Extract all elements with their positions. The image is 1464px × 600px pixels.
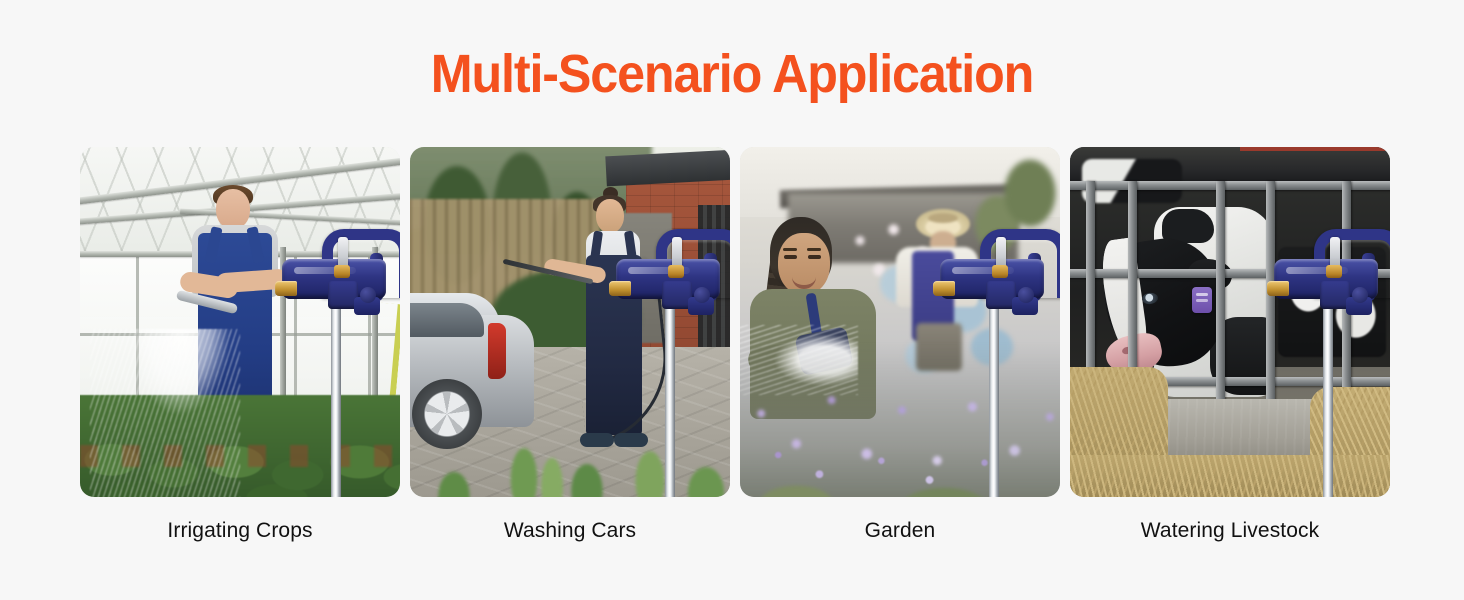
hydrant-bolt xyxy=(1352,287,1368,303)
hydrant-brass-nut xyxy=(992,265,1008,278)
scenario-card-irrigating-crops[interactable]: Irrigating Crops xyxy=(80,147,400,545)
woman-eye-right xyxy=(808,255,821,259)
yard-hydrant xyxy=(1274,229,1382,497)
rail-vertical xyxy=(1216,181,1225,411)
yard-hydrant xyxy=(940,229,1048,497)
hydrant-brass-nut xyxy=(1326,265,1342,278)
house-roof xyxy=(605,150,730,187)
scenario-card-washing-cars[interactable]: Washing Cars xyxy=(410,147,730,545)
hydrant-pipe xyxy=(1323,291,1333,497)
hydrant-brass-spout xyxy=(1267,281,1289,296)
water-spray xyxy=(90,329,240,497)
card-caption: Watering Livestock xyxy=(1141,517,1319,545)
scenario-card-watering-livestock[interactable]: Watering Livestock xyxy=(1070,147,1390,545)
hydrant-bolt xyxy=(1018,287,1034,303)
yard-hydrant xyxy=(282,229,390,497)
hydrant-brass-spout xyxy=(933,281,955,296)
hydrant-pipe xyxy=(665,291,675,497)
yard-hydrant xyxy=(616,229,724,497)
hydrant-brass-nut xyxy=(334,265,350,278)
hat-band xyxy=(928,213,958,223)
woman-eyebrow-left xyxy=(783,248,797,251)
barn-beam-red-stripe xyxy=(1240,147,1390,151)
worker-head xyxy=(216,189,250,229)
woman-eyebrow-right xyxy=(807,248,821,251)
hydrant-brass-spout xyxy=(275,281,297,296)
photo-watering-livestock xyxy=(1070,147,1390,497)
multi-scenario-banner: Multi-Scenario Application xyxy=(0,0,1464,600)
card-caption: Washing Cars xyxy=(504,517,636,545)
card-caption: Irrigating Crops xyxy=(167,517,312,545)
scenario-card-list: Irrigating Crops xyxy=(80,147,1390,545)
hydrant-pipe xyxy=(989,291,999,497)
hydrant-bolt xyxy=(360,287,376,303)
photo-irrigating-crops xyxy=(80,147,400,497)
card-caption: Garden xyxy=(865,517,936,545)
car-rear-window xyxy=(410,303,484,337)
car-taillight xyxy=(488,323,506,379)
hydrant-brass-spout xyxy=(609,281,631,296)
scenario-card-garden[interactable]: Garden xyxy=(740,147,1060,545)
hydrant-pipe xyxy=(331,291,341,497)
hydrant-bolt xyxy=(694,287,710,303)
page-title: Multi-Scenario Application xyxy=(51,44,1413,104)
photo-garden xyxy=(740,147,1060,497)
woman-eye-left xyxy=(784,255,797,259)
washer-head xyxy=(596,199,624,233)
hydrant-brass-nut xyxy=(668,265,684,278)
photo-washing-cars xyxy=(410,147,730,497)
